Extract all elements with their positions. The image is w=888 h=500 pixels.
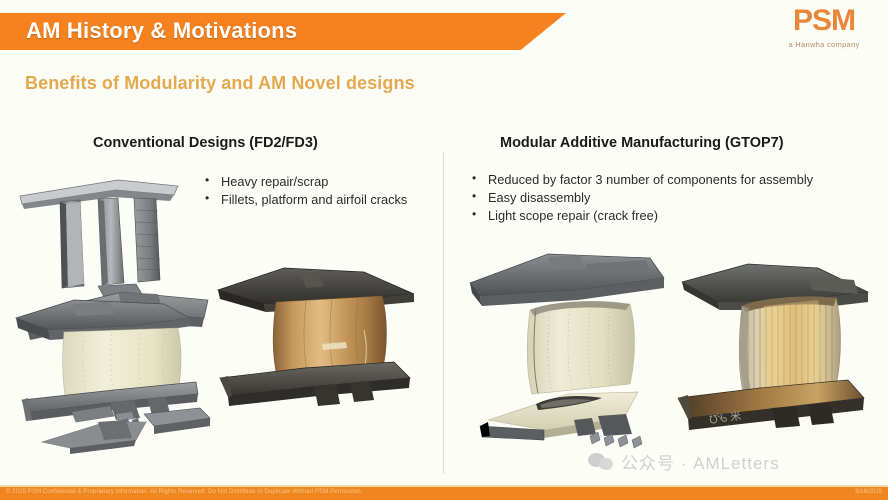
assembled-airfoil-cream-image <box>14 296 229 478</box>
footer-band: © 2025 PSM Confidential & Proprietary In… <box>0 487 888 500</box>
column-divider <box>443 152 444 474</box>
page-title: AM History & Motivations <box>26 18 297 44</box>
list-item: Light scope repair (crack free) <box>470 208 882 225</box>
footer-date: 9/18/2025 <box>855 489 882 495</box>
list-item: Fillets, platform and airfoil cracks <box>203 192 408 209</box>
slide: AM History & Motivations PSM a Hanwha co… <box>0 0 888 500</box>
list-item: Easy disassembly <box>470 190 882 207</box>
oxidized-vane-copper-image <box>214 252 419 417</box>
section-subtitle: Benefits of Modularity and AM Novel desi… <box>25 73 415 94</box>
footer-copyright: © 2025 PSM Confidential & Proprietary In… <box>6 489 363 495</box>
watermark-text: 公众号 · AMLetters <box>621 449 780 474</box>
psm-logo: PSM a Hanwha company <box>770 6 878 49</box>
list-item: Heavy repair/scrap <box>203 174 408 191</box>
list-item: Reduced by factor 3 number of components… <box>470 172 882 189</box>
modular-assembled-hot-section-image: ᘮᔎ 米 <box>668 248 886 443</box>
wechat-watermark: 公众号 · AMLetters <box>588 449 780 474</box>
modular-exploded-assembly-image <box>458 248 683 453</box>
logo-tagline: a Hanwha company <box>770 40 878 49</box>
left-column-heading: Conventional Designs (FD2/FD3) <box>93 135 318 151</box>
right-column-heading: Modular Additive Manufacturing (GTOP7) <box>500 135 784 151</box>
right-bullet-list: Reduced by factor 3 number of components… <box>470 172 882 226</box>
wechat-icon <box>588 453 614 471</box>
left-bullet-list: Heavy repair/scrap Fillets, platform and… <box>203 174 408 210</box>
logo-wordmark: PSM <box>770 6 878 36</box>
